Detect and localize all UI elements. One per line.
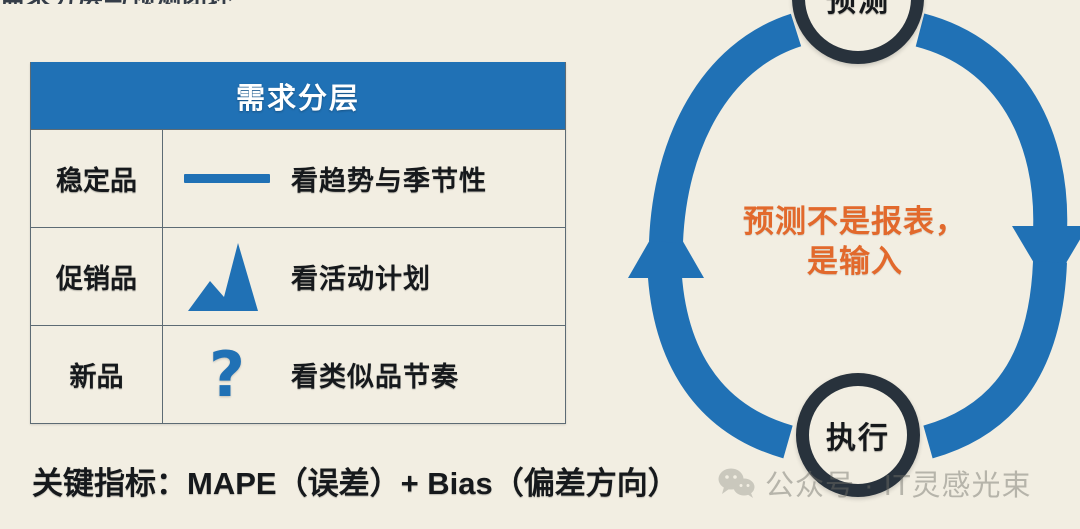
spike-chart-icon [163, 228, 291, 325]
cycle-center-line-1: 预测不是报表， [705, 202, 1005, 242]
wechat-icon [718, 468, 756, 498]
forecast-execution-cycle: 预测 预测不是报表， 是输入 执行 [620, 0, 1080, 510]
row-description-new: 看类似品节奏 [291, 355, 459, 394]
demand-segmentation-table: 需求分层 稳定品 看趋势与季节性 促销品 看活动计划 新 [30, 62, 566, 424]
key-metrics-footnote: 关键指标：MAPE（误差）+ Bias（偏差方向） [32, 458, 679, 503]
row-label-promo: 促销品 [31, 228, 163, 325]
slide-canvas: 需求分层与预测闭环 需求分层 稳定品 看趋势与季节性 促销品 看活动计划 [0, 0, 1080, 529]
row-body-new: ? 看类似品节奏 [163, 326, 565, 423]
table-header: 需求分层 [31, 62, 565, 129]
watermark: 公众号 · IT灵感光束 [718, 462, 1032, 504]
row-description-promo: 看活动计划 [291, 257, 431, 296]
page-title: 需求分层与预测闭环 [0, 0, 720, 4]
row-label-stable: 稳定品 [31, 130, 163, 227]
row-description-stable: 看趋势与季节性 [291, 159, 487, 198]
cycle-node-execute-label: 执行 [826, 413, 890, 457]
table-row: 稳定品 看趋势与季节性 [31, 129, 565, 227]
watermark-text: 公众号 · IT灵感光束 [765, 462, 1032, 504]
row-body-promo: 看活动计划 [163, 228, 565, 325]
question-mark-icon: ? [163, 326, 291, 423]
table-row: 新品 ? 看类似品节奏 [31, 325, 565, 423]
table-row: 促销品 看活动计划 [31, 227, 565, 325]
trend-line-icon [163, 130, 291, 227]
cycle-center-message: 预测不是报表， 是输入 [705, 202, 1005, 281]
row-label-new: 新品 [31, 326, 163, 423]
cycle-center-line-2: 是输入 [705, 242, 1005, 282]
cycle-node-forecast-label: 预测 [826, 0, 890, 20]
row-body-stable: 看趋势与季节性 [163, 130, 565, 227]
